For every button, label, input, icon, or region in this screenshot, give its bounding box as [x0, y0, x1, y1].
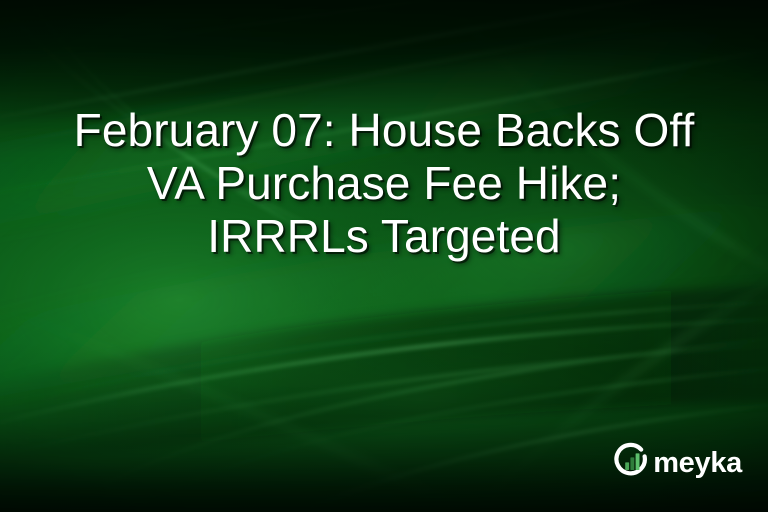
- title-line-2: VA Purchase Fee Hike;: [0, 157, 768, 210]
- headline-title: February 07: House Backs Off VA Purchase…: [0, 104, 768, 263]
- circle-bar-chart-icon: [612, 441, 652, 486]
- title-line-3: IRRRLs Targeted: [0, 210, 768, 263]
- logo-wordmark: meyka: [653, 449, 742, 478]
- news-card: February 07: House Backs Off VA Purchase…: [0, 0, 768, 512]
- title-line-1: February 07: House Backs Off: [0, 104, 768, 157]
- brand-logo[interactable]: meyka: [612, 441, 742, 486]
